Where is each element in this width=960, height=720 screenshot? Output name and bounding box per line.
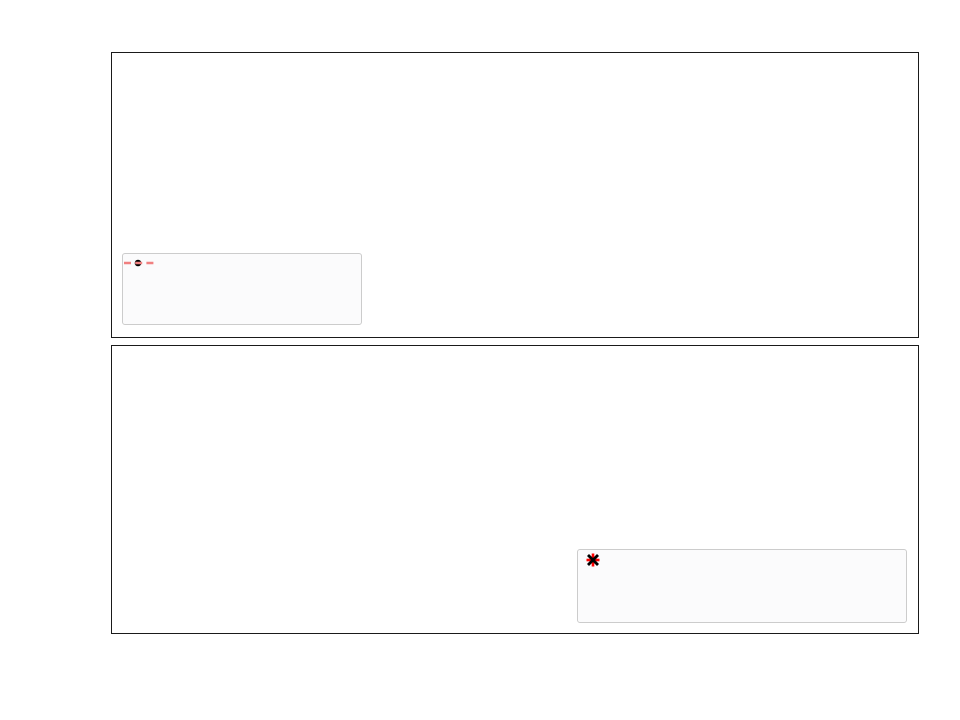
- legend-item-matched-stars[interactable]: [587, 562, 897, 586]
- figure-canvas: [0, 0, 960, 720]
- legend-item-predicted-stars[interactable]: [587, 586, 897, 610]
- bottom-panel-legend: [577, 549, 907, 623]
- bottom-panel: [111, 345, 919, 634]
- top-panel-legend: [122, 253, 362, 325]
- top-panel: [111, 52, 919, 338]
- legend-item-measurements[interactable]: [132, 265, 352, 289]
- legend-item-threshold[interactable]: [132, 289, 352, 313]
